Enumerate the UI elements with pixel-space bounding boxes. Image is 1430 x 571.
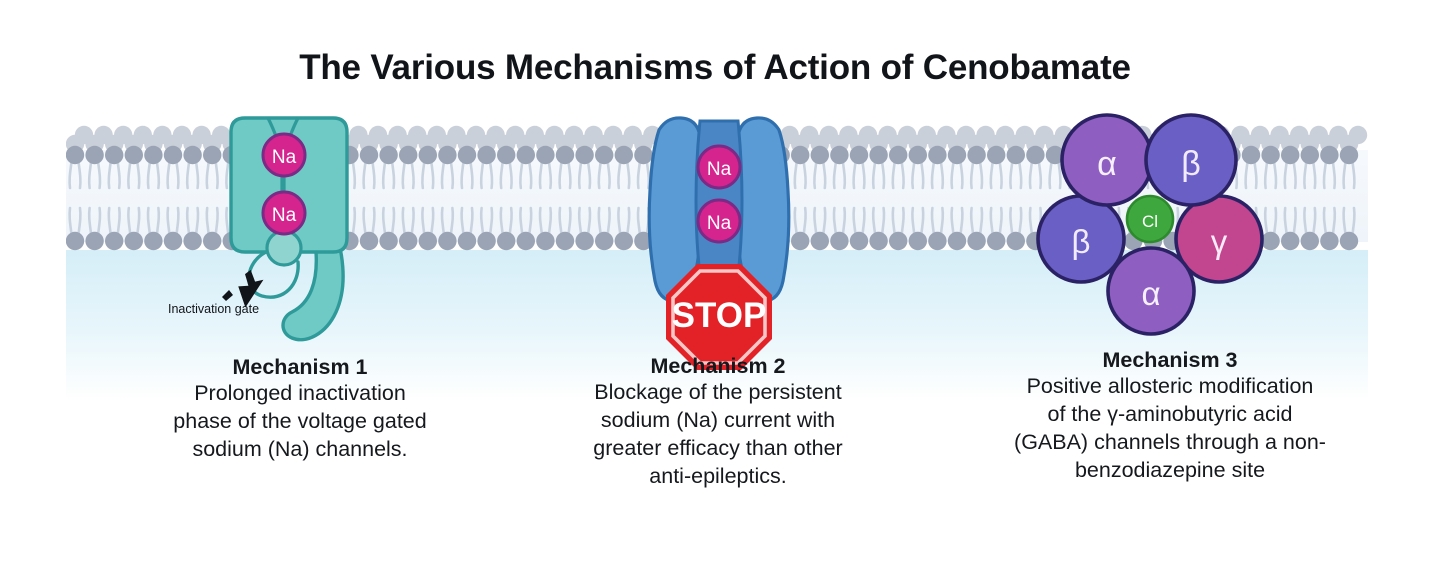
- mechanism-1-line-1: Prolonged inactivation: [110, 380, 490, 408]
- svg-text:Na: Na: [272, 147, 297, 168]
- svg-text:β: β: [1181, 145, 1201, 183]
- gaba-subunit-beta-mid-left: β: [1038, 196, 1124, 282]
- persistent-sodium-channel: Na Na STOP: [649, 118, 789, 370]
- inactivation-gate-label: Inactivation gate: [168, 302, 308, 316]
- mechanism-2-line-1: Blockage of the persistent: [528, 379, 908, 407]
- mechanism-2-heading: Mechanism 2: [528, 354, 908, 379]
- mechanism-3-line-1: Positive allosteric modification: [965, 373, 1375, 401]
- mechanism-1-caption: Mechanism 1 Prolonged inactivation phase…: [110, 355, 490, 464]
- mechanism-3-caption: Mechanism 3 Positive allosteric modifica…: [965, 348, 1375, 485]
- mechanism-1-line-2: phase of the voltage gated: [110, 408, 490, 436]
- mechanism-1-line-3: sodium (Na) channels.: [110, 436, 490, 464]
- mechanism-2-caption: Mechanism 2 Blockage of the persistent s…: [528, 354, 908, 491]
- mechanism-3-line-4: benzodiazepine site: [965, 457, 1375, 485]
- svg-text:α: α: [1141, 275, 1160, 312]
- svg-text:Na: Na: [707, 159, 732, 180]
- sodium-ion: Na: [263, 192, 305, 234]
- svg-text:α: α: [1097, 145, 1117, 183]
- sodium-ion: Na: [263, 134, 305, 176]
- svg-text:Cl: Cl: [1142, 212, 1158, 231]
- gaba-subunit-alpha-top-left: α: [1062, 115, 1152, 205]
- svg-text:γ: γ: [1211, 223, 1228, 260]
- channel1-gate-ball: [267, 231, 301, 265]
- gaba-subunit-alpha-bottom: α: [1108, 248, 1194, 334]
- mechanism-2-line-3: greater efficacy than other: [528, 435, 908, 463]
- mechanism-2-line-2: sodium (Na) current with: [528, 407, 908, 435]
- mechanism-3-line-3: (GABA) channels through a non-: [965, 429, 1375, 457]
- svg-text:β: β: [1072, 223, 1091, 260]
- mechanism-1-heading: Mechanism 1: [110, 355, 490, 380]
- mechanism-2-line-4: anti-epileptics.: [528, 463, 908, 491]
- gaba-pore-chloride-ion: Cl: [1127, 196, 1173, 242]
- svg-text:Na: Na: [272, 205, 297, 226]
- sodium-ion: Na: [698, 146, 740, 188]
- cenobamate-mechanisms-figure: The Various Mechanisms of Action of Ceno…: [0, 0, 1430, 571]
- channel2-pore: [696, 121, 742, 275]
- sodium-ion: Na: [698, 200, 740, 242]
- mechanism-3-heading: Mechanism 3: [965, 348, 1375, 373]
- mechanism-3-line-2: of the γ-aminobutyric acid: [965, 401, 1375, 429]
- gaba-subunit-beta-top-right: β: [1146, 115, 1236, 205]
- stop-sign-label: STOP: [672, 296, 767, 335]
- svg-text:Na: Na: [707, 213, 732, 234]
